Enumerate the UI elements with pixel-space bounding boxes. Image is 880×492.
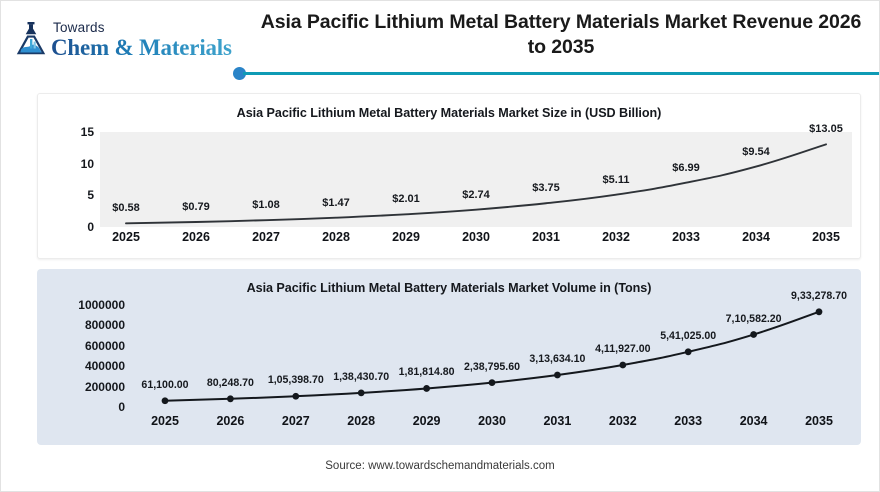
chart-title-market-volume: Asia Pacific Lithium Metal Battery Mater… — [37, 281, 861, 295]
line-series-market-size — [100, 132, 852, 227]
infographic-page: Towards Chem & Materials Asia Pacific Li… — [0, 0, 880, 492]
data-point-label: 3,13,634.10 — [529, 353, 585, 365]
x-axis-tick-label: 2034 — [740, 414, 768, 428]
y-axis-tick-label: 600000 — [85, 339, 125, 353]
source-note: Source: www.towardschemandmaterials.com — [1, 460, 879, 472]
data-point-label: 4,11,927.00 — [595, 343, 650, 355]
data-point-label: $9.54 — [742, 146, 770, 158]
brand-name-top: Towards — [53, 21, 232, 35]
data-point-label: $2.01 — [392, 193, 420, 205]
flask-icon — [14, 21, 48, 57]
y-axis-tick-label: 10 — [81, 157, 94, 171]
x-axis-tick-label: 2029 — [413, 414, 441, 428]
data-point-marker — [685, 348, 692, 355]
x-axis-tick-label: 2033 — [672, 230, 700, 244]
x-axis-tick-label: 2033 — [674, 414, 702, 428]
brand-name-bottom: Chem & Materials — [51, 36, 232, 59]
data-point-label: 2,38,795.60 — [464, 361, 520, 373]
chart-title-market-size: Asia Pacific Lithium Metal Battery Mater… — [38, 106, 860, 120]
x-axis-tick-label: 2035 — [805, 414, 833, 428]
data-point-label: 1,38,430.70 — [333, 371, 389, 383]
x-axis-tick-label: 2028 — [347, 414, 375, 428]
data-point-marker — [358, 389, 365, 396]
accent-line — [243, 72, 879, 75]
x-axis-tick-label: 2026 — [216, 414, 244, 428]
data-point-label: $5.11 — [603, 174, 630, 186]
chart-panel-market-volume: Asia Pacific Lithium Metal Battery Mater… — [37, 269, 861, 445]
brand-logo: Towards Chem & Materials — [14, 21, 232, 59]
x-axis-market-volume: 2025202620272028202920302031203220332034… — [133, 414, 851, 434]
data-point-marker — [554, 372, 561, 379]
data-point-marker — [816, 308, 823, 315]
data-point-label: 9,33,278.70 — [791, 290, 847, 302]
header-accent-rule — [233, 67, 879, 79]
x-axis-tick-label: 2027 — [282, 414, 310, 428]
x-axis-tick-label: 2030 — [478, 414, 506, 428]
data-point-label: 7,10,582.20 — [726, 313, 782, 325]
y-axis-tick-label: 0 — [118, 400, 125, 414]
data-point-label: $6.99 — [672, 162, 700, 174]
x-axis-tick-label: 2025 — [112, 230, 140, 244]
header: Towards Chem & Materials Asia Pacific Li… — [1, 1, 879, 85]
x-axis-tick-label: 2028 — [322, 230, 350, 244]
x-axis-tick-label: 2031 — [532, 230, 560, 244]
data-point-label: $2.74 — [462, 189, 490, 201]
data-point-marker — [750, 331, 757, 338]
data-point-label: 5,41,025.00 — [660, 330, 716, 342]
y-axis-market-size: 051015 — [56, 132, 94, 227]
x-axis-tick-label: 2029 — [392, 230, 420, 244]
x-axis-tick-label: 2030 — [462, 230, 490, 244]
data-point-label: 61,100.00 — [141, 379, 188, 391]
y-axis-tick-label: 400000 — [85, 359, 125, 373]
x-axis-market-size: 2025202620272028202920302031203220332034… — [100, 230, 852, 250]
y-axis-tick-label: 15 — [81, 125, 94, 139]
series-line — [126, 144, 826, 223]
data-point-label: $13.05 — [809, 123, 843, 135]
data-point-label: $0.79 — [182, 201, 210, 213]
data-point-label: $0.58 — [112, 202, 140, 214]
y-axis-tick-label: 0 — [87, 220, 94, 234]
data-point-marker — [227, 395, 234, 402]
x-axis-tick-label: 2026 — [182, 230, 210, 244]
y-axis-tick-label: 200000 — [85, 380, 125, 394]
x-axis-tick-label: 2032 — [609, 414, 637, 428]
data-point-label: 1,81,814.80 — [399, 366, 455, 378]
data-point-marker — [423, 385, 430, 392]
x-axis-tick-label: 2031 — [543, 414, 571, 428]
y-axis-tick-label: 1000000 — [78, 298, 125, 312]
x-axis-tick-label: 2025 — [151, 414, 179, 428]
y-axis-tick-label: 5 — [87, 188, 94, 202]
chart-panel-market-size: Asia Pacific Lithium Metal Battery Mater… — [37, 93, 861, 259]
x-axis-tick-label: 2035 — [812, 230, 840, 244]
plot-area-market-size — [100, 132, 852, 227]
data-point-marker — [162, 397, 169, 404]
data-point-marker — [292, 393, 299, 400]
data-point-label: $1.47 — [322, 197, 350, 209]
data-point-marker — [489, 379, 496, 386]
y-axis-market-volume: 02000004000006000008000001000000 — [37, 305, 125, 407]
page-title: Asia Pacific Lithium Metal Battery Mater… — [256, 10, 866, 61]
data-point-label: 80,248.70 — [207, 377, 254, 389]
x-axis-tick-label: 2032 — [602, 230, 630, 244]
y-axis-tick-label: 800000 — [85, 318, 125, 332]
series-line — [165, 312, 819, 401]
data-point-label: $3.75 — [532, 182, 560, 194]
x-axis-tick-label: 2034 — [742, 230, 770, 244]
x-axis-tick-label: 2027 — [252, 230, 280, 244]
data-point-marker — [619, 362, 626, 369]
data-point-label: $1.08 — [252, 199, 280, 211]
data-point-label: 1,05,398.70 — [268, 374, 324, 386]
